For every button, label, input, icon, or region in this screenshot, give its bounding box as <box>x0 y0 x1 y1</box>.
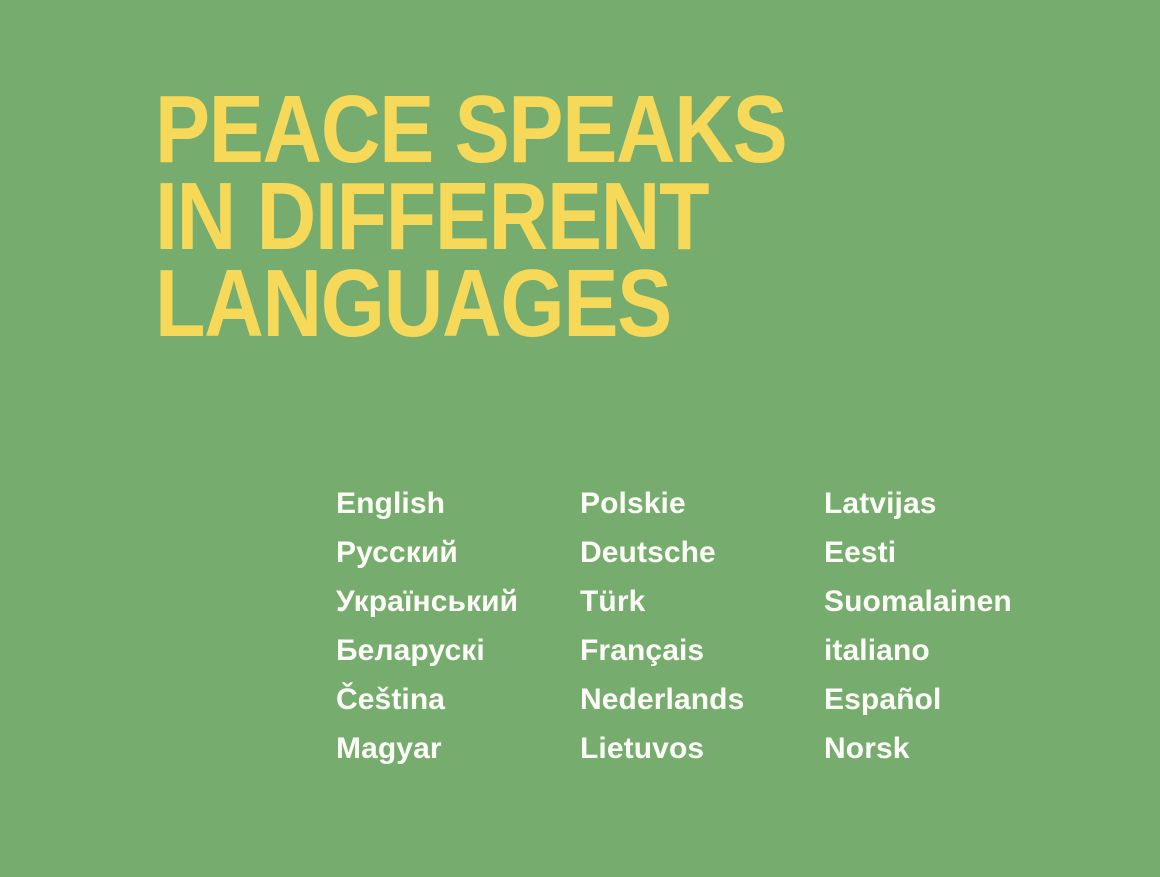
list-item: Deutsche <box>580 528 824 577</box>
list-item: Lietuvos <box>580 724 824 773</box>
list-item: Suomalainen <box>824 577 1012 626</box>
list-item: Беларускі <box>336 626 580 675</box>
page-title: PEACE SPEAKS IN DIFFERENT LANGUAGES <box>155 86 1015 347</box>
list-item: italiano <box>824 626 1012 675</box>
language-column-2: Polskie Deutsche Türk Français Nederland… <box>580 479 824 773</box>
list-item: Latvijas <box>824 479 1012 528</box>
list-item: Türk <box>580 577 824 626</box>
headline-line-2: IN DIFFERENT <box>155 173 895 260</box>
list-item: Polskie <box>580 479 824 528</box>
list-item: Čeština <box>336 675 580 724</box>
language-list: English Русский Український Беларускі Če… <box>336 479 1012 773</box>
poster-canvas: PEACE SPEAKS IN DIFFERENT LANGUAGES Engl… <box>0 0 1160 877</box>
list-item: Français <box>580 626 824 675</box>
list-item: Русский <box>336 528 580 577</box>
headline-line-1: PEACE SPEAKS <box>155 86 895 173</box>
language-column-3: Latvijas Eesti Suomalainen italiano Espa… <box>824 479 1012 773</box>
list-item: Український <box>336 577 580 626</box>
list-item: Eesti <box>824 528 1012 577</box>
list-item: Nederlands <box>580 675 824 724</box>
language-column-1: English Русский Український Беларускі Če… <box>336 479 580 773</box>
list-item: Magyar <box>336 724 580 773</box>
list-item: English <box>336 479 580 528</box>
headline-line-3: LANGUAGES <box>155 260 895 347</box>
list-item: Norsk <box>824 724 1012 773</box>
list-item: Español <box>824 675 1012 724</box>
